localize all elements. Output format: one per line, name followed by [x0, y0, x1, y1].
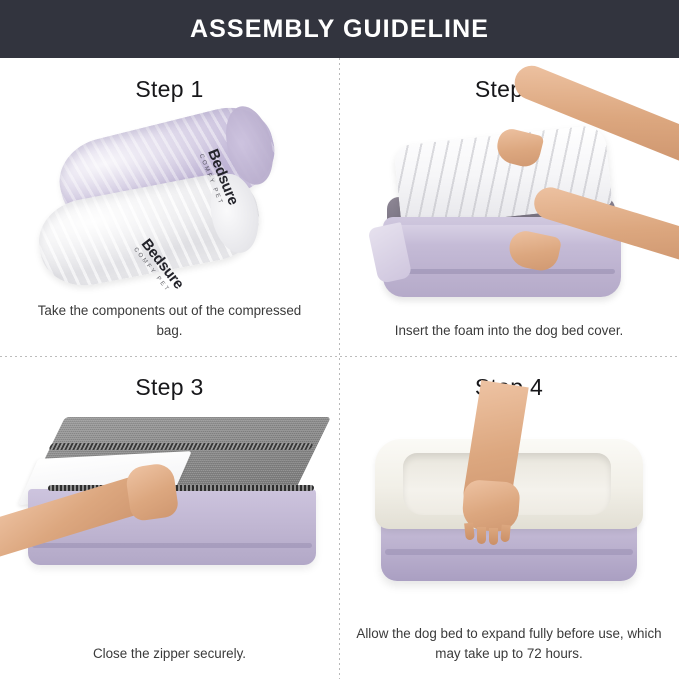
- cover-seam: [389, 269, 615, 274]
- open-zipper-track: [48, 443, 313, 450]
- horizontal-divider: [0, 356, 679, 357]
- step-4-caption: Allow the dog bed to expand fully before…: [354, 624, 664, 663]
- base-seam: [385, 549, 633, 555]
- finger: [464, 523, 475, 541]
- step-2-caption: Insert the foam into the dog bed cover.: [370, 321, 648, 340]
- step-1-caption: Take the components out of the compresse…: [31, 301, 309, 340]
- step-card-1: Step 1 Bedsure COMFY PET Bedsure COMFY P…: [0, 58, 339, 356]
- step-card-2: Step 2 Insert the foam into the dog bed …: [339, 58, 679, 356]
- step-1-title: Step 1: [135, 76, 203, 103]
- step-4-illustration: [359, 403, 659, 624]
- finger: [489, 528, 498, 545]
- step-2-illustration: [359, 105, 659, 321]
- bed-body-seam: [32, 543, 312, 548]
- step-3-caption: Close the zipper securely.: [31, 644, 309, 663]
- finger: [477, 527, 486, 544]
- assembly-guideline-infographic: ASSEMBLY GUIDELINE Step 1 Bedsure COMFY …: [0, 0, 679, 679]
- page-title: ASSEMBLY GUIDELINE: [190, 15, 489, 44]
- header-bar: ASSEMBLY GUIDELINE: [0, 0, 679, 58]
- hand-gripping-zipper-pull: [124, 462, 179, 522]
- step-1-illustration: Bedsure COMFY PET Bedsure COMFY PET: [20, 105, 320, 301]
- step-3-illustration: [20, 403, 320, 644]
- step-3-title: Step 3: [135, 374, 203, 401]
- step-card-3: Step 3 Close the zipper securely.: [0, 356, 339, 679]
- vertical-divider: [339, 58, 340, 679]
- step-card-4: Step 4 Allow the dog bed to expand fully…: [339, 356, 679, 679]
